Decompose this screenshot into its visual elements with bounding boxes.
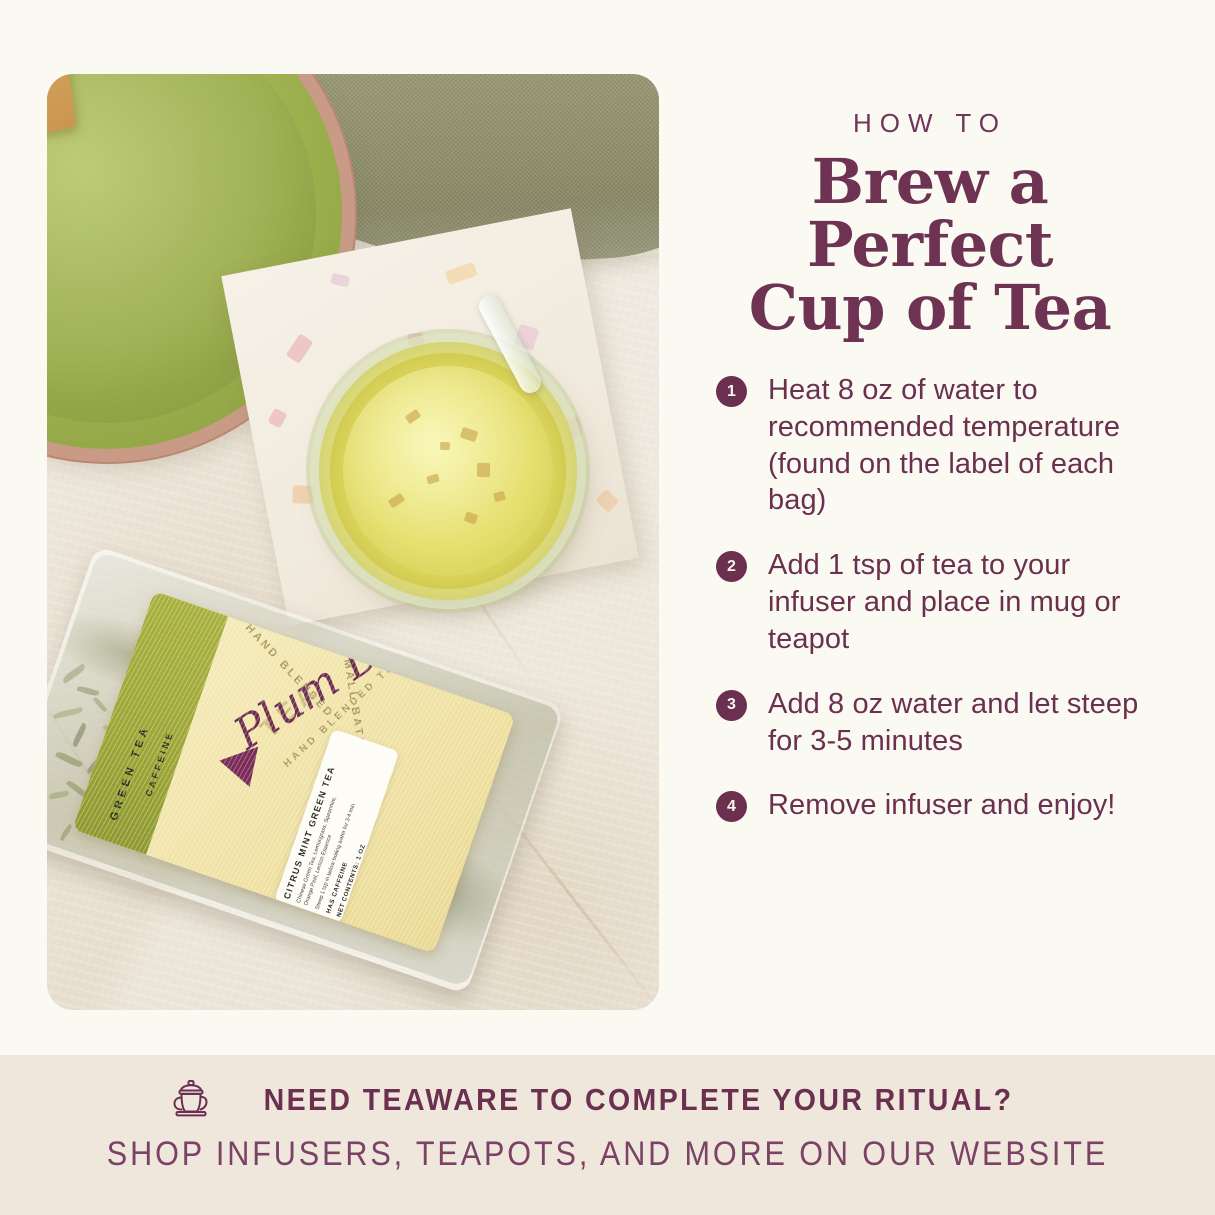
step-item: 2Add 1 tsp of tea to your infuser and pl…: [716, 547, 1166, 657]
step-text: Add 1 tsp of tea to your infuser and pla…: [768, 547, 1166, 657]
page-title: Brew a Perfect Cup of Tea: [680, 150, 1180, 340]
tea-leaf-fleck: [493, 491, 506, 502]
teapot-icon: [169, 1079, 213, 1121]
terrazzo-chip: [595, 489, 619, 513]
tea-leaf-fleck: [426, 474, 440, 485]
terrazzo-chip: [330, 273, 350, 288]
footer-banner: NEED TEAWARE TO COMPLETE YOUR RITUAL? SH…: [0, 1055, 1215, 1215]
tea-leaf-fleck: [459, 427, 478, 442]
step-text: Remove infuser and enjoy!: [768, 787, 1115, 824]
page-title-line2: Cup of Tea: [680, 276, 1180, 339]
step-text: Heat 8 oz of water to recommended temper…: [768, 372, 1166, 519]
tea-leaf-fleck: [477, 462, 490, 476]
package-ingredient-label: CITRUS MINT GREEN TEA Chinese Green Tea,…: [274, 729, 399, 924]
kicker-how-to: HOW TO: [690, 108, 1170, 139]
terrazzo-chip: [286, 334, 314, 365]
terrazzo-chip: [293, 485, 316, 504]
tea-leaf-fleck: [439, 441, 449, 450]
terrazzo-chip: [444, 262, 477, 285]
step-item: 4Remove infuser and enjoy!: [716, 787, 1166, 824]
step-number-badge: 1: [716, 376, 747, 407]
step-number-badge: 4: [716, 791, 747, 822]
package-ingredients: Chinese Green Tea, Lemongrass, Spearmint…: [295, 790, 349, 907]
footer-subline: SHOP INFUSERS, TEAPOTS, AND MORE ON OUR …: [61, 1135, 1155, 1174]
page-title-line1: Brew a Perfect: [680, 150, 1180, 276]
hero-photo: GREEN TEA CAFFEINE HAND BLENDED SMALL BA…: [47, 74, 659, 1010]
step-number-badge: 2: [716, 551, 747, 582]
package-address: Plum Deluxe Tea, Portland Oregon 97206: [345, 753, 399, 921]
package-net-contents: NET CONTENTS: 1 OZ: [336, 749, 400, 918]
package-caffeine-note: HAS CAFFEINE: [325, 746, 389, 915]
step-item: 3Add 8 oz water and let steep for 3-5 mi…: [716, 686, 1166, 760]
package-arc-small-batch: SMALL BATCH: [339, 648, 368, 760]
tea-leaf-fleck: [463, 511, 478, 525]
tea-leaf-fleck: [388, 493, 405, 509]
footer-headline: NEED TEAWARE TO COMPLETE YOUR RITUAL?: [264, 1082, 1014, 1118]
package-bird-logo: [219, 733, 273, 786]
brewed-tea: [343, 366, 553, 576]
terrazzo-chip: [268, 408, 288, 429]
package-caffeine-text: CAFFEINE: [144, 729, 176, 797]
package-ingredient-label-rotated: CITRUS MINT GREEN TEA Chinese Green Tea,…: [282, 731, 400, 921]
step-number-badge: 3: [716, 690, 747, 721]
step-text: Add 8 oz water and let steep for 3-5 min…: [768, 686, 1166, 760]
tea-leaf-fleck: [405, 409, 422, 424]
infographic-canvas: GREEN TEA CAFFEINE HAND BLENDED SMALL BA…: [0, 0, 1215, 1215]
footer-primary-row: NEED TEAWARE TO COMPLETE YOUR RITUAL?: [0, 1079, 1215, 1121]
package-flavor-name: CITRUS MINT GREEN TEA: [282, 731, 349, 901]
step-item: 1Heat 8 oz of water to recommended tempe…: [716, 372, 1166, 519]
package-steep-instructions: Steep 1 tsp in below boiling water for 3…: [314, 797, 360, 911]
package-green-tea-text: GREEN TEA: [108, 724, 152, 823]
steps-list: 1Heat 8 oz of water to recommended tempe…: [716, 372, 1166, 852]
package-tea-word: TEA: [254, 674, 326, 744]
